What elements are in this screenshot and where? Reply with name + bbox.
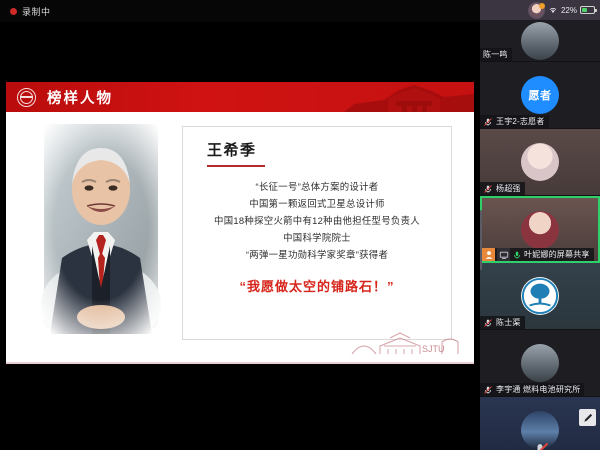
participant-name-bar: 杨超强	[480, 182, 525, 195]
monitor-icon	[499, 250, 509, 260]
participant-name: 杨超强	[496, 183, 521, 194]
person-name-wrap: 王希季	[191, 139, 443, 167]
participant-name-bar: 陈士渠	[480, 316, 525, 329]
mic-muted-icon	[483, 117, 493, 127]
participant-name: 陈士渠	[496, 317, 521, 328]
person-name: 王希季	[207, 139, 257, 163]
mic-muted-icon	[483, 385, 493, 395]
battery-icon	[580, 6, 595, 14]
participant-tile[interactable]: 李宇通 燃料电池研究所	[480, 330, 600, 397]
fact-item: “两弹一星功勋科学家奖章”获得者	[191, 246, 443, 263]
recording-dot-icon	[10, 8, 17, 15]
participant-name: 叶妮娜的屏幕共享	[524, 249, 590, 260]
annotate-button[interactable]	[579, 409, 596, 426]
participant-tile[interactable]: 愿者 王宇2-志愿者	[480, 62, 600, 129]
group-photo-avatar	[521, 344, 559, 382]
screen-share-icon	[497, 248, 510, 261]
anime-avatar	[521, 143, 559, 181]
mic-active-icon	[512, 250, 522, 260]
participant-name-bar: 王宇2-志愿者	[480, 115, 549, 128]
recording-bar: 录制中	[0, 0, 480, 22]
participant-name: 陈一鸣	[483, 49, 508, 60]
initials-avatar-blue: 愿者	[521, 76, 559, 114]
wifi-icon	[548, 5, 558, 15]
participant-tile[interactable]: 陈一鸣	[480, 20, 600, 62]
host-badge-icon	[482, 248, 495, 261]
notification-badge-icon	[539, 3, 545, 9]
slide-header-title: 榜样人物	[47, 87, 113, 108]
party-emblem-icon	[17, 88, 36, 107]
meeting-screen: 录制中 榜样人物	[0, 0, 600, 450]
portrait-image	[32, 118, 170, 334]
user-avatar-icon	[528, 2, 545, 19]
fact-item: 中国科学院院士	[191, 229, 443, 246]
tiananmen-gate-icon	[344, 82, 474, 112]
participant-tile[interactable]: 李静	[480, 397, 600, 450]
slide-text-panel: 王希季 “长征一号”总体方案的设计者 中国第一颗返回式卫星总设计师 中国18种探…	[182, 126, 452, 340]
slide-quote: “我愿做太空的铺路石！”	[191, 276, 443, 295]
name-underline	[207, 165, 265, 167]
participant-tile[interactable]: 陈士渠	[480, 263, 600, 330]
participant-name: 王宇2-志愿者	[496, 116, 545, 127]
recording-label: 录制中	[22, 5, 51, 18]
battery-percent-label: 22%	[561, 6, 577, 15]
rail-scrollbar[interactable]	[480, 210, 482, 270]
device-status-bar: 22%	[480, 0, 600, 20]
svg-text:SJTU: SJTU	[422, 344, 445, 354]
tree-logo-avatar	[521, 277, 559, 315]
slide-body: 王希季 “长征一号”总体方案的设计者 中国第一颗返回式卫星总设计师 中国18种探…	[6, 112, 474, 364]
participant-name: 李宇通 燃料电池研究所	[496, 384, 580, 395]
presentation-slide: 榜样人物	[6, 82, 474, 364]
participant-tile-active[interactable]: 叶妮娜的屏幕共享	[480, 196, 600, 263]
fact-item: 中国第一颗返回式卫星总设计师	[191, 195, 443, 212]
slide-bottom-rule	[6, 362, 474, 364]
mic-muted-icon	[483, 318, 493, 328]
mic-muted-overlay-icon	[530, 441, 550, 450]
slide-header: 榜样人物	[6, 82, 474, 112]
pen-icon	[582, 412, 594, 424]
sjtu-gate-logo: SJTU	[350, 328, 462, 358]
mic-muted-icon	[483, 184, 493, 194]
fact-item: “长征一号”总体方案的设计者	[191, 178, 443, 195]
fact-list: “长征一号”总体方案的设计者 中国第一颗返回式卫星总设计师 中国18种探空火箭中…	[191, 178, 443, 263]
participant-tile[interactable]: 杨超强	[480, 129, 600, 196]
portrait-illustration	[32, 118, 170, 334]
participant-name-bar: 陈一鸣	[480, 48, 512, 61]
host-person-icon	[484, 250, 494, 260]
tree-emblem-icon	[521, 277, 559, 315]
participant-rail[interactable]: 22% 陈一鸣 愿者	[480, 0, 600, 450]
photo-avatar	[521, 22, 559, 60]
participant-name-bar: 李宇通 燃料电池研究所	[480, 383, 584, 396]
shared-screen-stage[interactable]: 榜样人物	[0, 22, 480, 450]
fact-item: 中国18种探空火箭中有12种由他担任型号负责人	[191, 212, 443, 229]
red-scarf-avatar	[521, 211, 559, 249]
participant-name-bar: 叶妮娜的屏幕共享	[482, 248, 594, 261]
participant-tiles[interactable]: 陈一鸣 愿者 王宇2-志愿者	[480, 20, 600, 450]
